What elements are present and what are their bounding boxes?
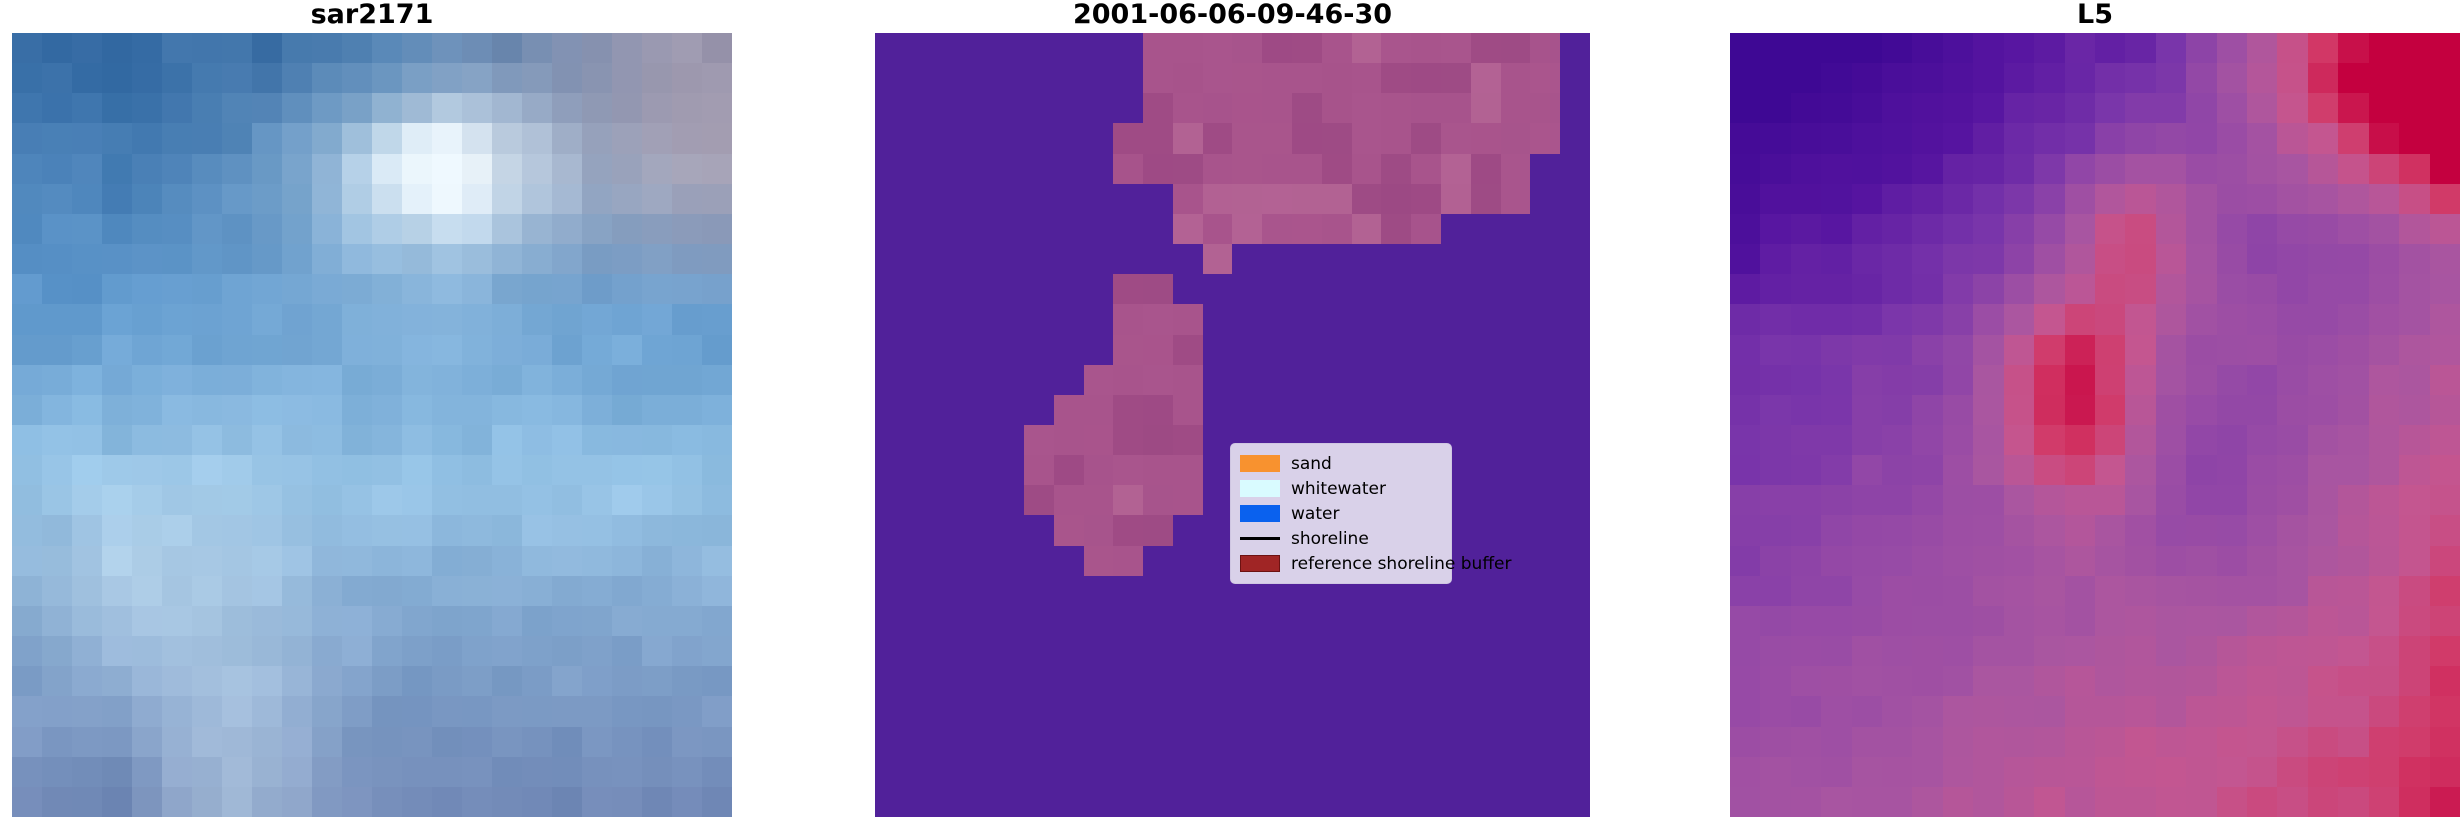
- legend-box: sand whitewater water shoreline referenc…: [1230, 443, 1452, 584]
- legend-label-sand: sand: [1291, 454, 1332, 474]
- panel-title-l5: L5: [1730, 0, 2460, 31]
- legend-item-water: water: [1240, 501, 1442, 526]
- panel-title-classification: 2001-06-06-09-46-30: [875, 0, 1590, 31]
- raster-image-classification: [875, 33, 1590, 817]
- legend-swatch-shoreline: [1240, 537, 1280, 540]
- legend-item-whitewater: whitewater: [1240, 476, 1442, 501]
- legend-swatch-sand: [1240, 455, 1280, 472]
- figure-canvas: sar2171 2001-06-06-09-46-30 sand whitewa…: [0, 0, 2460, 834]
- legend-label-water: water: [1291, 504, 1339, 524]
- panel-l5: L5: [1730, 0, 2460, 817]
- legend-swatch-whitewater: [1240, 480, 1280, 497]
- legend-swatch-water: [1240, 505, 1280, 522]
- axes-classification: sand whitewater water shoreline referenc…: [875, 33, 1590, 817]
- legend-swatch-reference-shoreline-buffer: [1240, 555, 1280, 572]
- panel-classification: 2001-06-06-09-46-30 sand whitewater wate…: [875, 0, 1590, 817]
- axes-sar2171: [12, 33, 732, 817]
- legend-label-reference-shoreline-buffer: reference shoreline buffer: [1291, 554, 1512, 574]
- raster-image-sar2171: [12, 33, 732, 817]
- panel-sar2171: sar2171: [12, 0, 732, 817]
- legend-item-shoreline: shoreline: [1240, 526, 1442, 551]
- legend-label-shoreline: shoreline: [1291, 529, 1369, 549]
- legend-item-reference-shoreline-buffer: reference shoreline buffer: [1240, 551, 1442, 576]
- panel-title-sar2171: sar2171: [12, 0, 732, 31]
- axes-l5: [1730, 33, 2460, 817]
- raster-image-l5: [1730, 33, 2460, 817]
- legend-item-sand: sand: [1240, 451, 1442, 476]
- legend-label-whitewater: whitewater: [1291, 479, 1386, 499]
